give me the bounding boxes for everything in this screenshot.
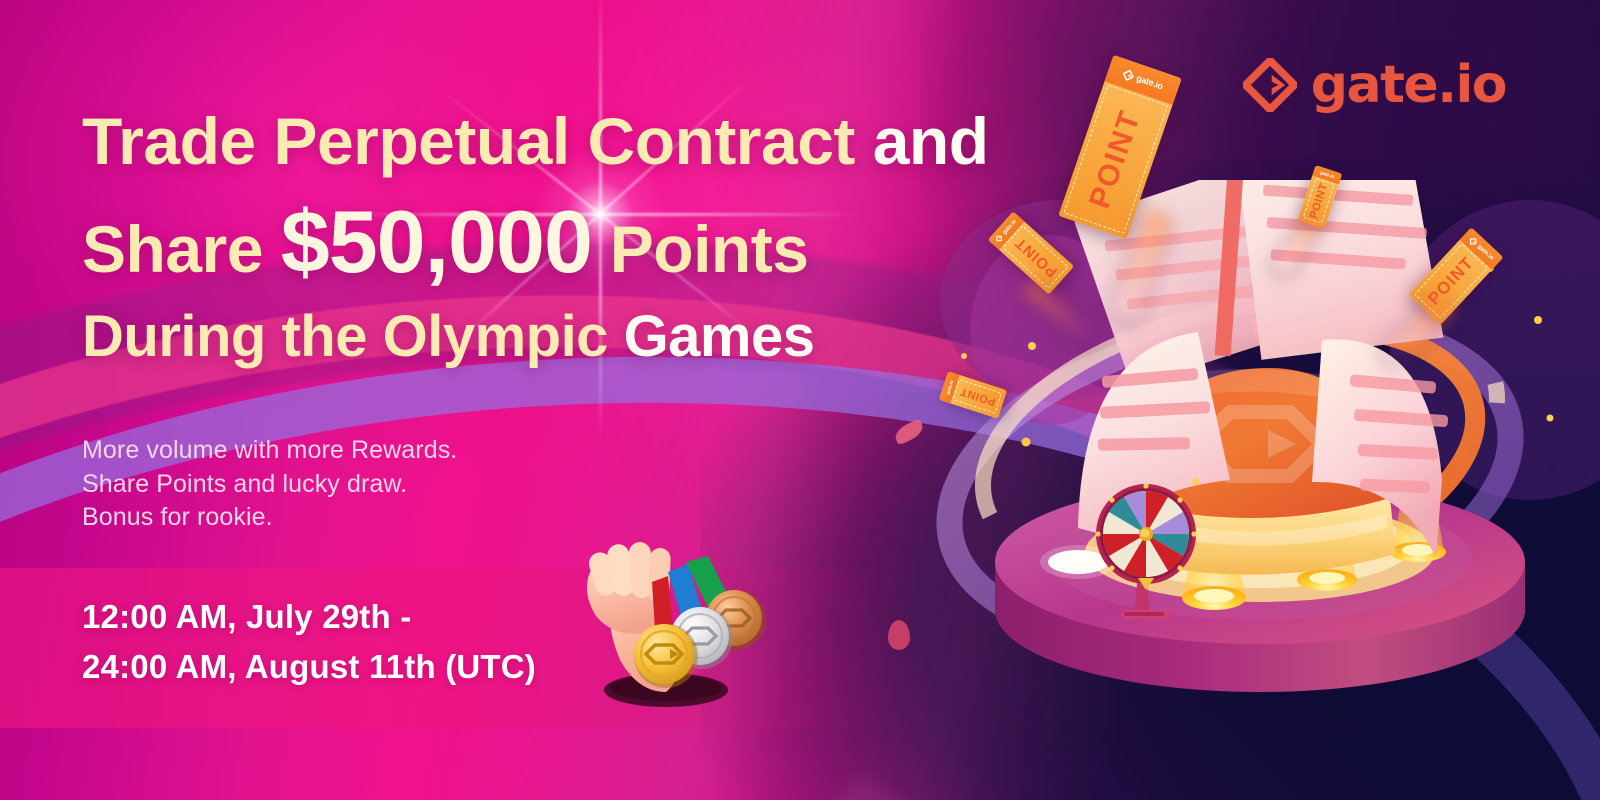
ticket-point-label: POINT: [1307, 182, 1330, 221]
headline-line-1-part-1: Trade Perpetual Contract: [82, 104, 873, 178]
ticket-brand-label: gate.io: [1320, 170, 1335, 179]
subtext-line-1: More volume with more Rewards.: [82, 434, 457, 468]
confetti-petal-2: [888, 620, 910, 650]
headline-line-2: Share $50,000 Points: [82, 198, 1042, 286]
gold-medal: [634, 624, 694, 684]
ticket-point-label: POINT: [958, 385, 997, 408]
gate-diamond-g-icon: [1243, 58, 1297, 112]
campaign-dates-block: 12:00 AM, July 29th - 24:00 AM, August 1…: [82, 592, 536, 692]
subtext-line-3: Bonus for rookie.: [82, 501, 457, 535]
confetti-dot-2: [1192, 478, 1199, 485]
headline-line-3-part-2: Games: [624, 304, 815, 369]
gate-io-logo[interactable]: gate.io: [1243, 58, 1506, 112]
ticket-point-label: POINT: [1083, 106, 1148, 213]
headline-block: Trade Perpetual Contract and Share $50,0…: [82, 108, 1042, 366]
headline-line-1-part-2: and: [873, 104, 989, 178]
ticket-brand-label: gate.io: [1135, 73, 1164, 91]
headline-line-2-part-2: Points: [592, 212, 809, 286]
headline-line-3-part-1: During the Olympic: [82, 304, 624, 369]
subtext-line-2: Share Points and lucky draw.: [82, 468, 457, 502]
headline-line-1: Trade Perpetual Contract and: [82, 108, 1042, 174]
campaign-end-date: 24:00 AM, August 11th (UTC): [82, 642, 536, 692]
gate-mark-icon: [1122, 68, 1136, 82]
headline-amount: $50,000: [281, 192, 592, 291]
subtext-block: More volume with more Rewards. Share Poi…: [82, 434, 457, 535]
lucky-draw-wheel[interactable]: [1088, 482, 1208, 627]
gate-io-wordmark: gate.io: [1311, 59, 1506, 111]
campaign-start-date: 12:00 AM, July 29th -: [82, 592, 536, 642]
hand-holding-medals: [556, 520, 776, 710]
headline-line-3: During the Olympic Games: [82, 308, 1042, 366]
headline-line-2-part-1: Share: [82, 212, 281, 286]
promo-banner: gate.io POINT gate.io POINT gate.io POIN…: [0, 0, 1600, 800]
ticket-brand-label: gate.io: [945, 380, 954, 395]
